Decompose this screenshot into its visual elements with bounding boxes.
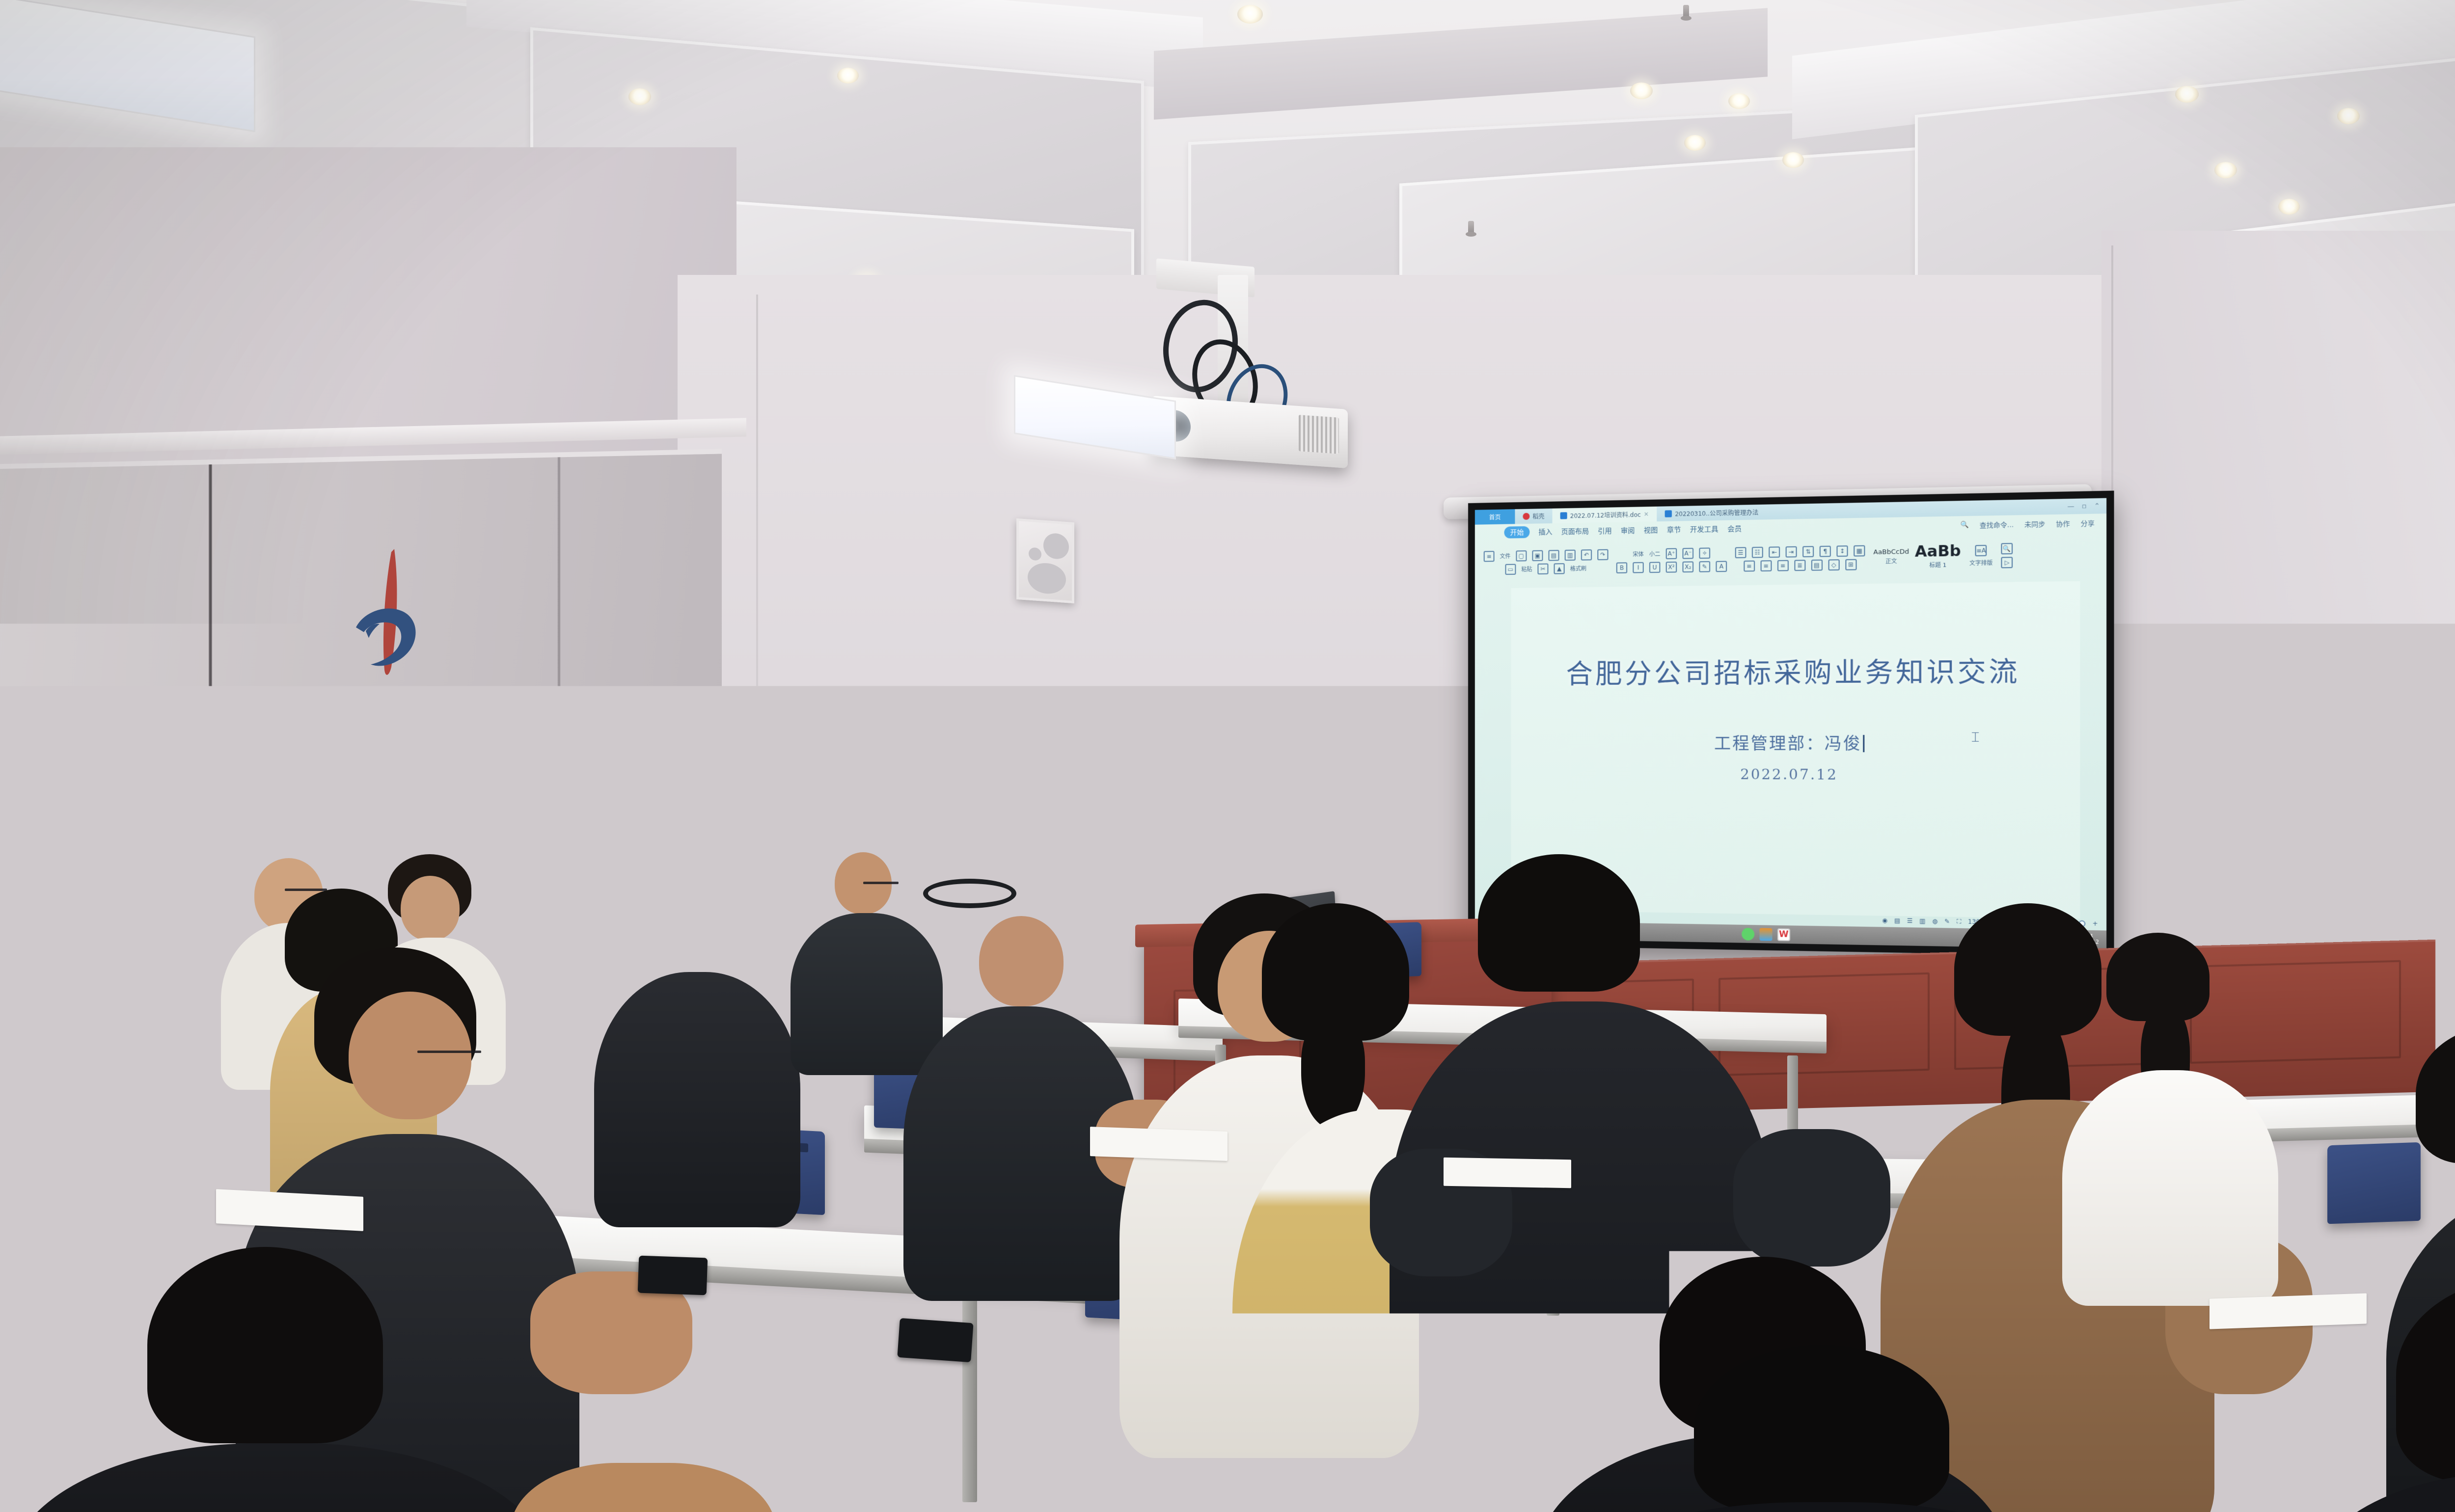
file-menu-icon[interactable]: ≡: [1484, 551, 1495, 562]
paste-label[interactable]: 粘贴: [1521, 565, 1532, 573]
cut-icon[interactable]: ✂: [1537, 563, 1548, 574]
ribbon-tab-view[interactable]: 视图: [1644, 525, 1658, 535]
font-size-value[interactable]: 小二: [1649, 550, 1660, 558]
attendee-torso: [2062, 1070, 2278, 1306]
select-icon[interactable]: ▷: [2001, 557, 2013, 568]
bullet-list-icon[interactable]: ☰: [1735, 547, 1746, 558]
wps-tab-dock[interactable]: 稻壳: [1515, 509, 1552, 524]
ac-grille: [821, 706, 928, 765]
wps-icon[interactable]: W: [1777, 928, 1790, 941]
paste-icon[interactable]: ▭: [1505, 564, 1516, 574]
company-logo-block: 安徽·安装: [265, 541, 511, 748]
author-text: 工程管理部：冯俊: [1714, 733, 1862, 753]
sprinkler-head: [1468, 221, 1474, 236]
ribbon-tab-insert[interactable]: 插入: [1538, 527, 1552, 537]
font-name-value[interactable]: 宋体: [1633, 550, 1643, 558]
undo-icon[interactable]: ↶: [1581, 549, 1592, 561]
wechat-icon[interactable]: [1742, 927, 1754, 940]
downlight: [628, 88, 651, 105]
style-normal[interactable]: AaBbCcDd 正文: [1873, 549, 1909, 566]
wps-tab-label: 稻壳: [1532, 512, 1544, 521]
downlight: [1728, 93, 1750, 109]
night-mode-icon[interactable]: ◉: [1882, 917, 1887, 924]
document-date-line: 2022.07.12: [1511, 765, 2080, 784]
decrease-indent-icon[interactable]: ⇤: [1769, 546, 1780, 558]
wps-home-button[interactable]: 首页: [1475, 509, 1515, 525]
attendee-head: [401, 876, 460, 941]
ribbon-group-text-layout: ≡A 文字排版: [1969, 544, 1992, 567]
style-preview: AaBb: [1915, 543, 1961, 560]
collaborate-label[interactable]: 协作: [2056, 518, 2070, 528]
window-controls: — ▫ ⌃: [2067, 502, 2106, 510]
ribbon-row: ▷: [2001, 557, 2013, 568]
wps-tab-document-1[interactable]: 2022.07.12培训资料.doc ✕: [1553, 507, 1657, 523]
borders-icon[interactable]: ▦: [1854, 545, 1865, 556]
distribute-icon[interactable]: ▤: [1811, 559, 1822, 570]
file-menu-label[interactable]: 文件: [1500, 552, 1511, 560]
smartphone[interactable]: [638, 1256, 708, 1296]
downlight: [2175, 86, 2199, 103]
ribbon-row: ≡ 文件 ▢ ▣ ▤ ▥ ↶ ↷: [1484, 549, 1609, 562]
attendee-torso: [594, 972, 800, 1227]
attendee-hair: [1478, 854, 1640, 992]
clear-format-icon[interactable]: ✧: [1699, 547, 1710, 559]
attendee-head: [140, 844, 214, 918]
downlight: [1237, 5, 1263, 24]
shrink-font-icon[interactable]: A⁻: [1683, 547, 1694, 559]
two-page-view-icon[interactable]: ▥: [1919, 918, 1925, 925]
chair[interactable]: [2327, 1142, 2421, 1224]
attendee-head: [349, 992, 471, 1119]
ribbon-row: 宋体 小二 A⁺ A⁻ ✧: [1633, 547, 1710, 560]
table-icon[interactable]: ⊞: [1845, 559, 1856, 570]
document-title: 合肥分公司招标采购业务知识交流: [1511, 648, 2080, 691]
document-author-line: 工程管理部：冯俊: [1511, 729, 2080, 754]
ribbon-row: ≡A: [1975, 544, 1987, 556]
text-layout-icon[interactable]: ≡A: [1975, 544, 1987, 556]
font-color-icon[interactable]: A: [1716, 561, 1727, 572]
window-mullion: [479, 808, 483, 964]
ribbon-tab-start[interactable]: 开始: [1504, 526, 1530, 539]
underline-icon[interactable]: U: [1649, 562, 1660, 573]
ribbon-right-actions: 🔍 查找命令... 未同步 协作 分享: [1961, 517, 2106, 530]
page-view-icon[interactable]: ▤: [1894, 917, 1900, 924]
superscript-icon[interactable]: X²: [1666, 561, 1677, 572]
meeting-room-photo: 装 安徽·安装 27: [0, 0, 2455, 1512]
ribbon-tab-page-layout[interactable]: 页面布局: [1561, 526, 1589, 537]
zoom-in-button[interactable]: +: [2093, 920, 2098, 927]
attendee-head: [979, 916, 1064, 1006]
downlight: [1684, 135, 1706, 151]
downlight: [837, 68, 859, 83]
ribbon-tab-member[interactable]: 会员: [1727, 523, 1742, 534]
doc-icon: [1665, 510, 1672, 517]
wainscot-panel: [2190, 960, 2401, 1064]
line-spacing-icon[interactable]: ↕: [1836, 545, 1848, 557]
number-list-icon[interactable]: ☷: [1752, 546, 1763, 558]
subscript-icon[interactable]: X₂: [1683, 561, 1694, 572]
highlight-icon[interactable]: ✎: [1699, 561, 1710, 572]
glasses-icon: [417, 1051, 481, 1053]
justify-icon[interactable]: ≣: [1794, 560, 1805, 571]
wall-seam: [756, 295, 758, 957]
align-left-icon[interactable]: ≡: [1744, 560, 1755, 571]
speaker-woofer: [1028, 562, 1066, 594]
ribbon-row: ▭ 粘贴 ✂ ▲ 格式刷: [1505, 563, 1586, 574]
downlight: [1782, 152, 1804, 168]
align-right-icon[interactable]: ≡: [1777, 560, 1788, 571]
ribbon-group-file: ≡ 文件 ▢ ▣ ▤ ▥ ↶ ↷ ▭ 粘贴 ✂: [1484, 549, 1609, 575]
grow-font-icon[interactable]: A⁺: [1666, 548, 1677, 559]
close-icon[interactable]: ✕: [1644, 511, 1649, 517]
minimize-icon[interactable]: —: [2067, 503, 2074, 511]
paper-sheet: [1444, 1158, 1571, 1188]
attendee-head: [7, 850, 76, 929]
banner-partial-text: 装: [0, 679, 20, 752]
blind-edge: [209, 464, 212, 808]
wps-tab-document-2[interactable]: 20220310..公司采购管理办法: [1657, 505, 1766, 522]
shading-icon[interactable]: ◇: [1828, 559, 1839, 570]
ribbon-tab-review[interactable]: 审阅: [1621, 525, 1635, 536]
ribbon-row: 🔍: [2001, 542, 2013, 554]
wps-tab-label: 2022.07.12培训资料.doc: [1570, 510, 1641, 520]
format-painter-icon[interactable]: ▲: [1554, 563, 1565, 574]
ribbon-row: AaBbCcDd 正文 AaBb 标题 1: [1873, 543, 1961, 569]
maximize-icon[interactable]: ▫: [2082, 502, 2087, 510]
ribbon-row: ☰ ☷ ⇤ ⇥ ⇅ ¶ ↕ ▦: [1735, 545, 1865, 558]
style-preview: AaBbCcDd: [1873, 549, 1909, 556]
style-name: 标题 1: [1929, 561, 1946, 569]
save-icon[interactable]: ▤: [1549, 550, 1559, 561]
wall-speaker-left: [1016, 518, 1074, 603]
ribbon-group-find: 🔍 ▷: [2001, 542, 2013, 568]
collapse-ribbon-icon[interactable]: ⌃: [2094, 502, 2100, 510]
ribbon-group-paragraph: ☰ ☷ ⇤ ⇥ ⇅ ¶ ↕ ▦ ≡ ≡ ≡: [1735, 545, 1865, 571]
outline-view-icon[interactable]: ☰: [1907, 917, 1912, 924]
dock-icon: [1523, 513, 1529, 520]
text-layout-label[interactable]: 文字排版: [1969, 558, 1992, 567]
company-name-text: 安徽·安装: [265, 698, 511, 748]
redo-icon[interactable]: ↷: [1597, 549, 1608, 560]
anhui-anzhuang-logo-icon: [336, 543, 439, 692]
sprinkler-head: [1683, 5, 1689, 20]
style-name: 正文: [1885, 557, 1897, 565]
italic-icon[interactable]: I: [1633, 562, 1643, 573]
ribbon-tab-references[interactable]: 引用: [1598, 526, 1611, 536]
attendee-head: [653, 890, 732, 974]
ribbon-row: 文字排版: [1969, 558, 1992, 567]
sort-icon[interactable]: ⇅: [1802, 546, 1814, 557]
ribbon-group-styles: AaBbCcDd 正文 AaBb 标题 1: [1873, 543, 1961, 569]
attendee-head: [47, 977, 140, 1075]
fit-page-icon[interactable]: ⛶: [1957, 918, 1961, 925]
floor: [0, 1355, 2455, 1512]
increase-indent-icon[interactable]: ⇥: [1786, 546, 1797, 557]
wps-tab-label: 20220310..公司采购管理办法: [1675, 508, 1758, 518]
attendee-arm: [1733, 1129, 1890, 1267]
doc-icon: [1560, 512, 1567, 519]
ceiling-beam: [1154, 8, 1768, 119]
show-marks-icon[interactable]: ¶: [1820, 545, 1831, 557]
find-icon[interactable]: 🔍: [2001, 542, 2013, 554]
bold-icon[interactable]: B: [1616, 562, 1627, 573]
speaker-tweeter: [1043, 533, 1069, 560]
downlight: [2337, 108, 2360, 124]
search-command-icon[interactable]: 🔍: [1961, 521, 1969, 529]
downlight: [2278, 199, 2300, 215]
attendee-torso: [791, 913, 943, 1075]
paper-sheet: [1090, 1127, 1227, 1161]
glasses-icon: [285, 889, 327, 891]
text-caret: [1863, 735, 1864, 752]
ac-display: 27: [850, 794, 900, 805]
presenter-hair-top: [1299, 811, 1358, 838]
web-view-icon[interactable]: ◍: [1932, 918, 1937, 925]
sync-status-label[interactable]: 未同步: [2024, 518, 2045, 529]
open-icon[interactable]: ▣: [1532, 550, 1543, 561]
print-icon[interactable]: ▥: [1565, 549, 1576, 561]
align-center-icon[interactable]: ≡: [1760, 560, 1772, 571]
speaker-tweeter-small: [1029, 547, 1041, 561]
search-command-label[interactable]: 查找命令...: [1980, 519, 2014, 529]
sogou-icon[interactable]: [1760, 928, 1773, 941]
mouse-cursor-ibeam-icon: ⌶: [1971, 729, 1980, 745]
downlight: [2214, 162, 2237, 178]
ribbon-tab-developer[interactable]: 开发工具: [1690, 524, 1718, 534]
edit-mode-icon[interactable]: ✎: [1944, 918, 1950, 925]
new-icon[interactable]: ▢: [1516, 550, 1527, 561]
format-painter-label[interactable]: 格式刷: [1570, 564, 1586, 572]
glasses-icon: [863, 882, 899, 884]
style-heading-1[interactable]: AaBb 标题 1: [1915, 543, 1961, 569]
ribbon-row: ≡ ≡ ≡ ≣ ▤ ◇ ⊞: [1744, 559, 1856, 571]
cable-coil: [923, 879, 1016, 908]
ribbon-group-font: 宋体 小二 A⁺ A⁻ ✧ B I U X² X₂ ✎: [1616, 547, 1727, 573]
ribbon-tab-section[interactable]: 章节: [1667, 525, 1681, 535]
blind-edge: [557, 457, 561, 801]
attendee-head: [575, 874, 633, 936]
roller-blind-banner: 装 安徽·安装: [0, 449, 722, 808]
downlight: [1630, 82, 1653, 99]
ribbon-row: B I U X² X₂ ✎ A: [1616, 561, 1727, 573]
paper-sheet: [2209, 1293, 2367, 1329]
projector-vent: [1299, 415, 1339, 454]
share-label[interactable]: 分享: [2081, 517, 2095, 527]
